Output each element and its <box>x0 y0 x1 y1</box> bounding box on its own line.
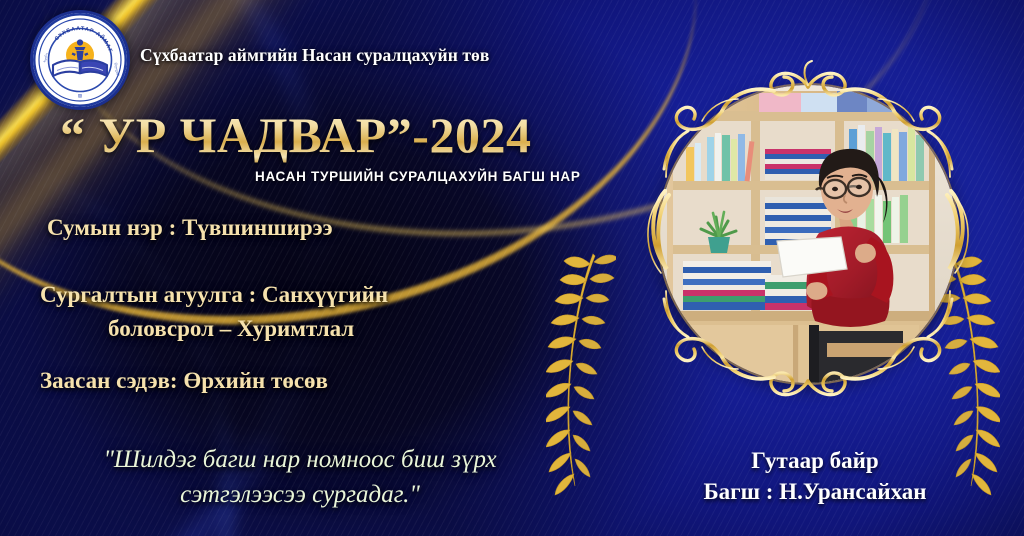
info-line-soum-name: Сумын нэр : Түвшинширээ <box>47 215 333 241</box>
credit-block: Гутаар байр Багш : Н.Урансайхан <box>640 448 990 505</box>
sukhbaatar-province-emblem-icon: СҮХБААТАР АЙМАГ ▨ ᠰᠦᠬᠡ ᠪᠠᠭᠠᠲᠤᠷ <box>33 13 127 107</box>
teacher-portrait-icon <box>659 85 957 383</box>
quote-text: "Шилдэг багш нар номноос биш зүрх сэтгэл… <box>0 443 600 512</box>
page-subtitle: НАСАН ТУРШИЙН СУРАЛЦАХУЙН БАГШ НАР <box>255 169 581 184</box>
credit-teacher: Багш : Н.Урансайхан <box>640 479 990 505</box>
quote-line-1: "Шилдэг багш нар номноос биш зүрх <box>103 446 496 473</box>
info-line-training-content-cont: боловсрол – Хуримтлал <box>108 316 354 342</box>
teacher-photo-container <box>659 85 957 383</box>
poster-canvas: СҮХБААТАР АЙМАГ ▨ ᠰᠦᠬᠡ ᠪᠠᠭᠠᠲᠤᠷ Сүхбаат <box>0 0 1024 536</box>
page-title: “ УР ЧАДВАР”-2024 <box>60 106 531 164</box>
info-line-training-content: Сургалтын агуулга : Санхүүгийн <box>40 282 388 308</box>
organization-title: Сүхбаатар аймгийн Насан суралцахуйн төв <box>140 45 489 66</box>
quote-line-2: сэтгэлээсээ сургадаг." <box>0 478 600 513</box>
svg-text:▨: ▨ <box>78 93 82 98</box>
info-line-topic: Заасан сэдэв: Өрхийн төсөв <box>40 368 328 394</box>
credit-rank: Гутаар байр <box>640 448 990 474</box>
